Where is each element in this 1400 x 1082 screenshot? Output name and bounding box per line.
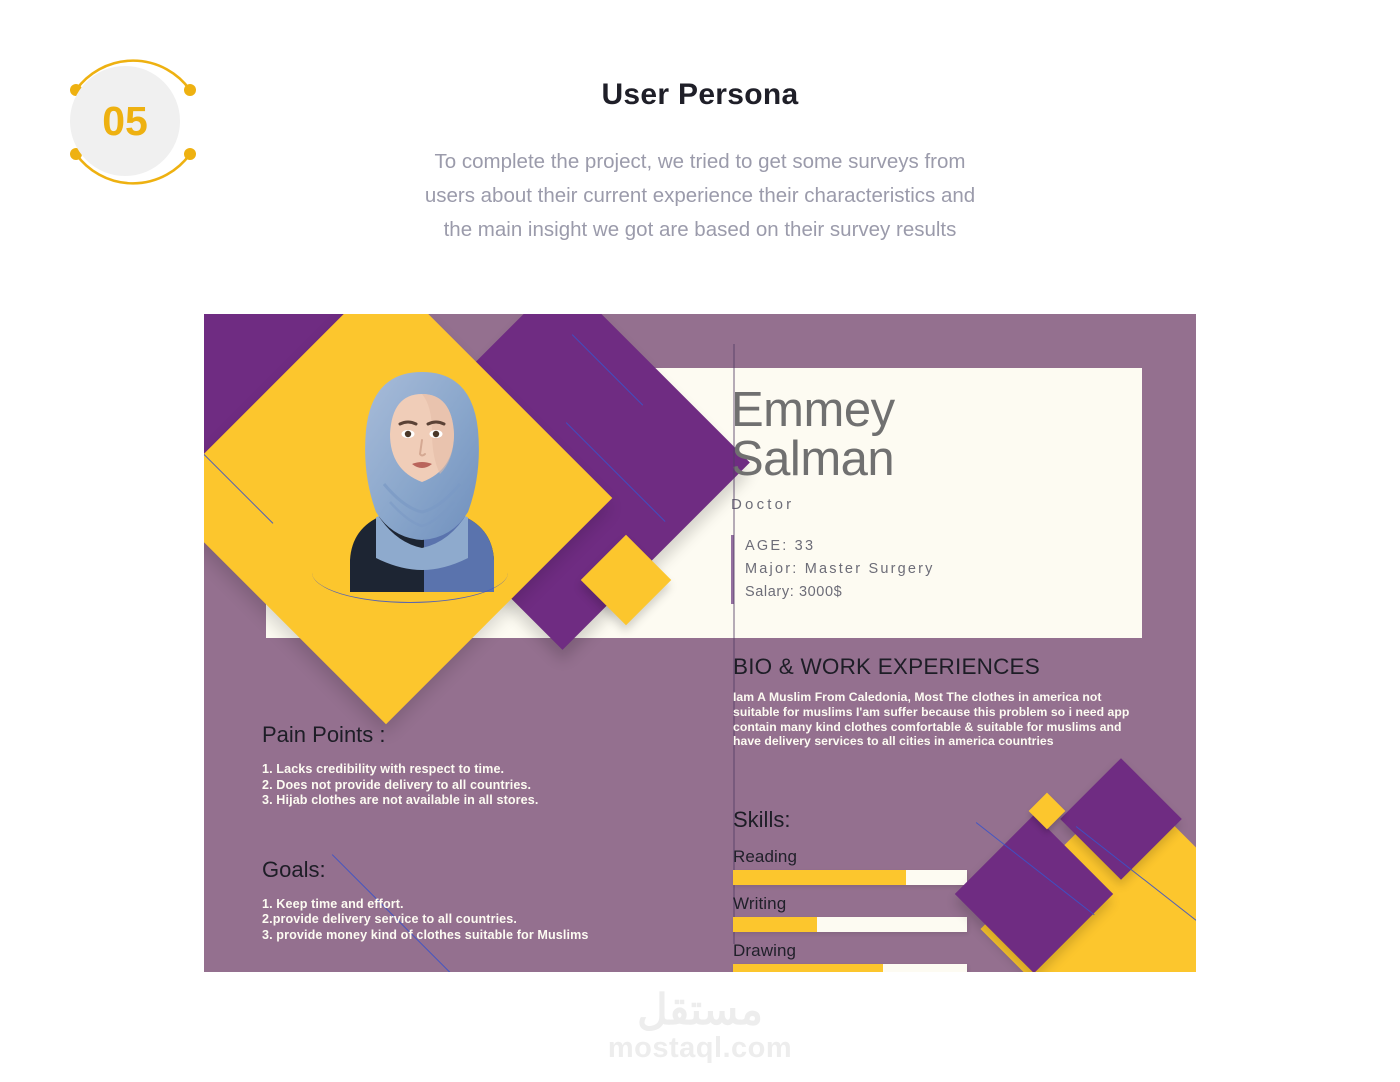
persona-detail-age: AGE: 33 <box>745 535 1131 558</box>
decor-bottom-right-cluster <box>966 782 1196 972</box>
pain-point-item: 1. Lacks credibility with respect to tim… <box>262 762 682 778</box>
watermark-latin: mostaql.com <box>0 1032 1400 1064</box>
persona-last-name: Salman <box>731 435 1131 484</box>
subtitle-line-2: users about their current experience the… <box>350 179 1050 213</box>
watermark-arabic: مستقل <box>0 988 1400 1032</box>
persona-details: AGE: 33 Major: Master Surgery Salary: 30… <box>731 535 1131 604</box>
skill-progress-fill <box>733 964 883 972</box>
decor-portrait-arc <box>312 542 508 603</box>
persona-detail-salary: Salary: 3000$ <box>745 581 1131 604</box>
skill-progress-track <box>733 917 967 932</box>
step-number-badge: 05 <box>48 44 218 199</box>
pain-points-and-goals-column: Pain Points : 1. Lacks credibility with … <box>262 722 682 943</box>
goals-heading: Goals: <box>262 857 682 883</box>
persona-first-name: Emmey <box>731 386 1131 435</box>
goal-item: 2.provide delivery service to all countr… <box>262 912 682 928</box>
goals-list: 1. Keep time and effort. 2.provide deliv… <box>262 897 682 944</box>
skill-progress-track <box>733 870 967 885</box>
goal-item: 1. Keep time and effort. <box>262 897 682 913</box>
skill-progress-fill <box>733 870 906 885</box>
bio-section: BIO & WORK EXPERIENCES Iam A Muslim From… <box>733 654 1153 749</box>
pain-point-item: 3. Hijab clothes are not available in al… <box>262 793 682 809</box>
persona-detail-major: Major: Master Surgery <box>745 558 1131 581</box>
persona-role: Doctor <box>731 496 1131 513</box>
subtitle-line-1: To complete the project, we tried to get… <box>350 145 1050 179</box>
pain-points-section: Pain Points : 1. Lacks credibility with … <box>262 722 682 809</box>
persona-card: Emmey Salman Doctor AGE: 33 Major: Maste… <box>204 314 1196 972</box>
subtitle-line-3: the main insight we got are based on the… <box>350 213 1050 247</box>
bio-text: Iam A Muslim From Caledonia, Most The cl… <box>733 690 1131 749</box>
skill-progress-track <box>733 964 967 972</box>
pain-point-item: 2. Does not provide delivery to all coun… <box>262 778 682 794</box>
pain-points-list: 1. Lacks credibility with respect to tim… <box>262 762 682 809</box>
goal-item: 3. provide money kind of clothes suitabl… <box>262 928 682 944</box>
skill-progress-fill <box>733 917 817 932</box>
pain-points-heading: Pain Points : <box>262 722 682 748</box>
bio-heading: BIO & WORK EXPERIENCES <box>733 654 1153 680</box>
persona-identity: Emmey Salman Doctor AGE: 33 Major: Maste… <box>731 386 1131 604</box>
page-title: User Persona <box>0 78 1400 112</box>
goals-section: Goals: 1. Keep time and effort. 2.provid… <box>262 857 682 944</box>
page-subtitle: To complete the project, we tried to get… <box>350 145 1050 247</box>
mostaql-watermark: مستقل mostaql.com <box>0 988 1400 1064</box>
